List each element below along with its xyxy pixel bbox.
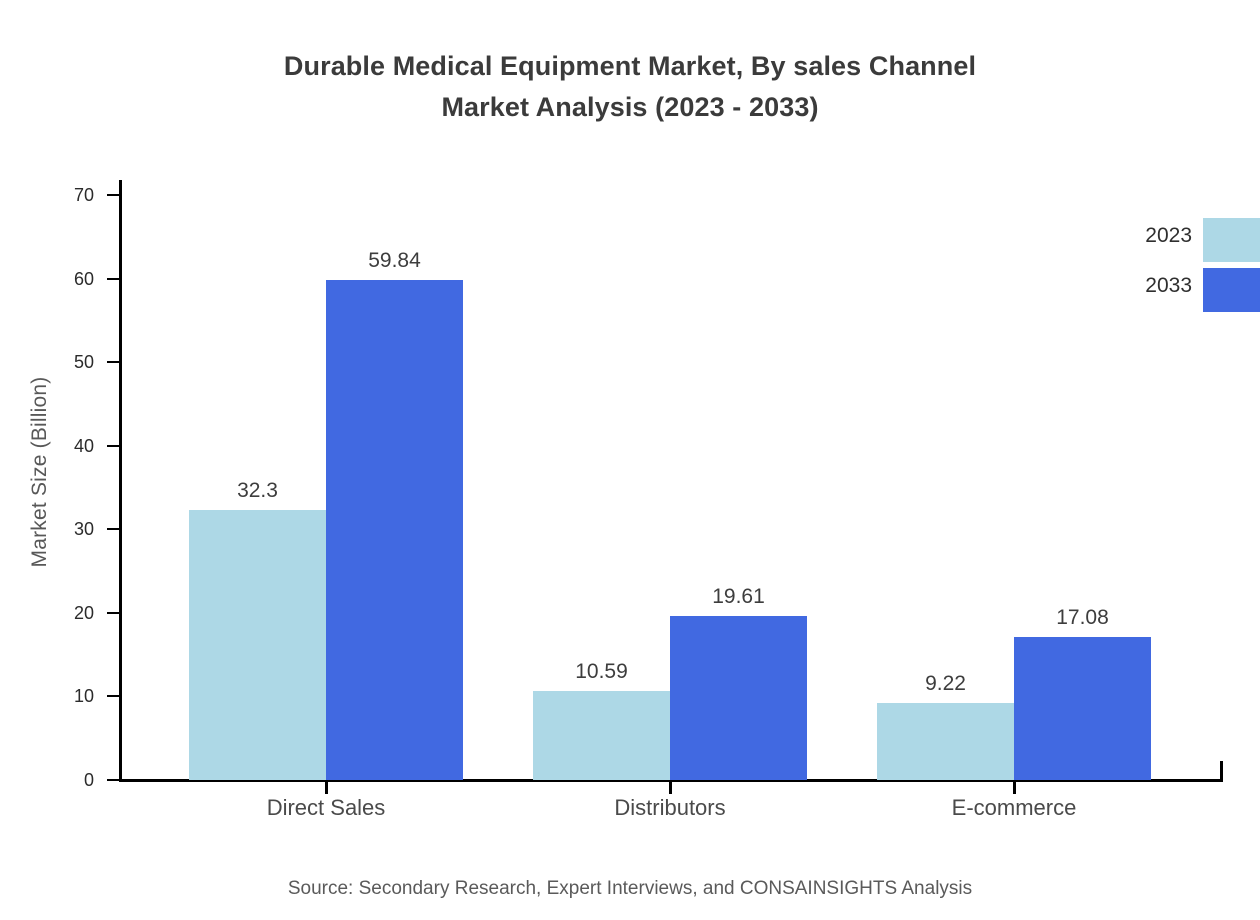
x-axis-tick [669,780,672,794]
legend-swatch [1203,268,1260,312]
x-axis-category-label: E-commerce [864,795,1164,821]
legend-label: 2023 [1145,224,1192,248]
source-note: Source: Secondary Research, Expert Inter… [0,878,1260,900]
bar-2023-distributors[interactable] [533,691,670,780]
bar-2033-e-commerce[interactable] [1014,637,1151,780]
x-axis-tick [325,780,328,794]
bar-2023-direct-sales[interactable] [189,510,326,780]
legend: 20232033 [1100,218,1260,318]
legend-swatch [1203,218,1260,262]
x-axis-tick [1013,780,1016,794]
bar-2033-direct-sales[interactable] [326,280,463,780]
legend-label: 2033 [1145,274,1192,298]
bar-2023-e-commerce[interactable] [877,703,1014,780]
bar-2033-distributors[interactable] [670,616,807,780]
x-axis-category-label: Distributors [520,795,820,821]
chart-page: Durable Medical Equipment Market, By sal… [0,0,1260,920]
legend-item-2023[interactable]: 2023 [1100,218,1260,268]
bars-layer: 32.310.599.2259.8419.6117.08 [0,0,1260,780]
bar-value-label: 59.84 [295,250,495,271]
bar-value-label: 19.61 [639,586,839,607]
legend-item-2033[interactable]: 2033 [1100,268,1260,318]
x-axis-category-label: Direct Sales [176,795,476,821]
bar-value-label: 17.08 [983,607,1183,628]
